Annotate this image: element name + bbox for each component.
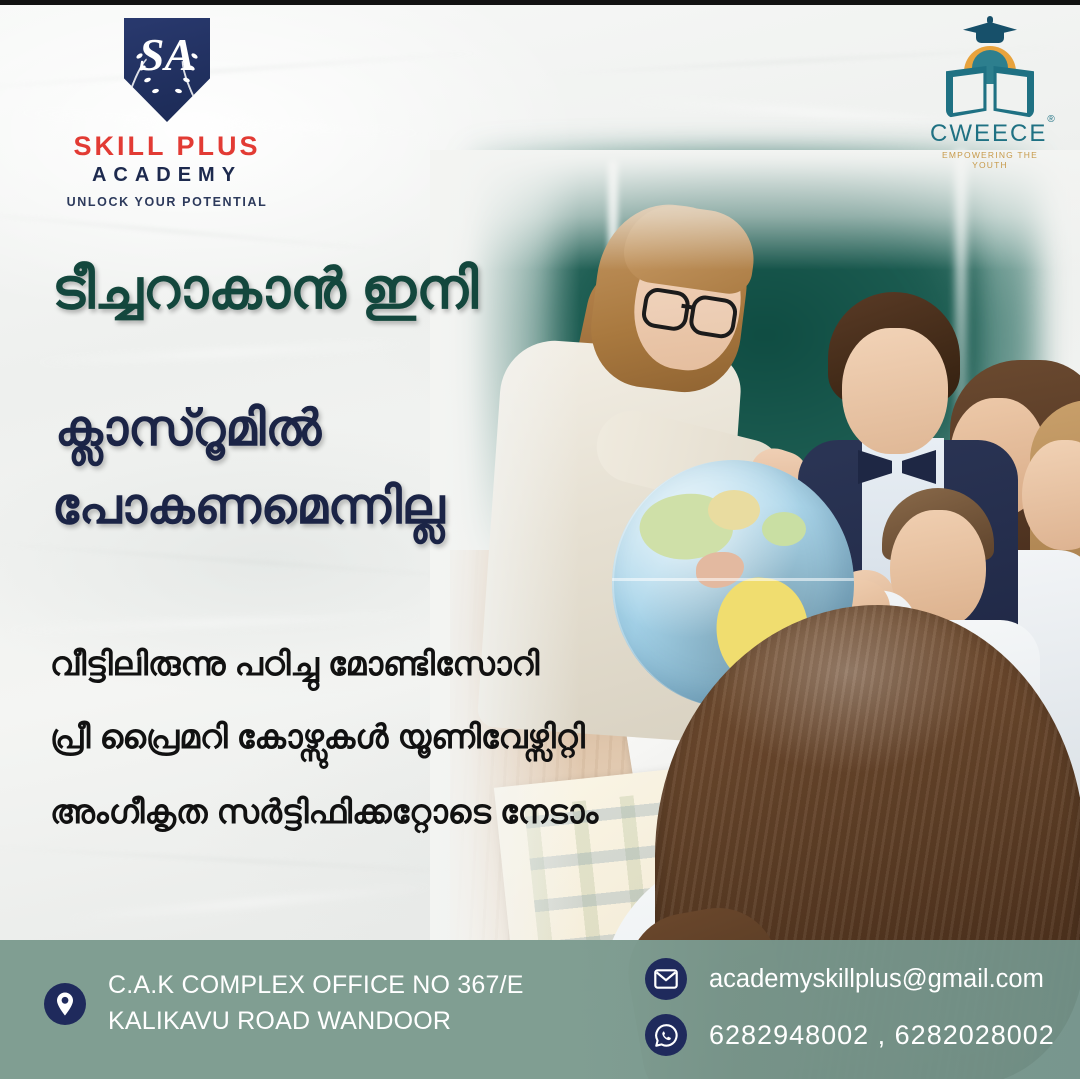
brand-name-secondary: ACADEMY <box>52 164 282 187</box>
registered-mark: ® <box>1047 114 1056 125</box>
laurel-wreath-icon <box>130 46 204 116</box>
open-book-icon <box>944 46 1036 120</box>
contact-footer: C.A.K COMPLEX OFFICE NO 367/E KALIKAVU R… <box>0 940 1080 1079</box>
student-boy-bowtie <box>858 450 936 484</box>
top-edge-strip <box>0 0 1080 5</box>
headline-line-3: പോകണമെന്നില്ല <box>52 478 445 534</box>
email-icon <box>645 958 687 1000</box>
headline-line-2: ക്ലാസ്റൂമിൽ <box>55 400 321 456</box>
skill-plus-logo: SA SKILL PLUS ACADEMY UNLOCK YOUR POTENT… <box>52 18 282 209</box>
phone-text[interactable]: 6282948002 , 6282028002 <box>709 1020 1055 1051</box>
address-block: C.A.K COMPLEX OFFICE NO 367/E KALIKAVU R… <box>44 968 524 1039</box>
body-line-3: അംഗീകൃത സർട്ടിഫിക്കറ്റോടെ നേടാം <box>50 793 598 832</box>
poster-canvas: SA SKILL PLUS ACADEMY UNLOCK YOUR POTENT… <box>0 0 1080 1079</box>
email-row[interactable]: academyskillplus@gmail.com <box>645 958 1055 1000</box>
headline-line-1: ടീച്ചറാകാൻ ഇനി <box>52 258 478 320</box>
contact-block: academyskillplus@gmail.com 6282948002 , … <box>645 958 1055 1070</box>
shield-icon: SA <box>124 18 210 122</box>
body-line-2: പ്രീ പ്രൈമറി കോഴ്സുകൾ യൂണിവേഴ്സിറ്റി <box>50 718 585 757</box>
phone-row[interactable]: 6282948002 , 6282028002 <box>645 1014 1055 1056</box>
brand-name-primary: SKILL PLUS <box>52 131 282 162</box>
whatsapp-icon <box>645 1014 687 1056</box>
location-pin-icon <box>44 983 86 1025</box>
cweece-name-text: CWEECE <box>930 120 1047 147</box>
graduation-cap-icon <box>963 16 1017 42</box>
brand-tagline: UNLOCK YOUR POTENTIAL <box>52 195 282 209</box>
cweece-name: CWEECE® <box>930 120 1050 148</box>
body-line-1: വീട്ടിലിരുന്നു പഠിച്ചു മോണ്ടിസോറി <box>50 645 539 684</box>
address-line-1: C.A.K COMPLEX OFFICE NO 367/E <box>108 971 524 999</box>
cweece-logo: CWEECE® EMPOWERING THE YOUTH <box>930 16 1050 170</box>
address-line-2: KALIKAVU ROAD WANDOOR <box>108 1004 524 1040</box>
cweece-tagline: EMPOWERING THE YOUTH <box>930 150 1050 170</box>
address-text: C.A.K COMPLEX OFFICE NO 367/E KALIKAVU R… <box>108 968 524 1039</box>
student-boy-face <box>842 328 948 454</box>
email-text[interactable]: academyskillplus@gmail.com <box>709 965 1044 994</box>
